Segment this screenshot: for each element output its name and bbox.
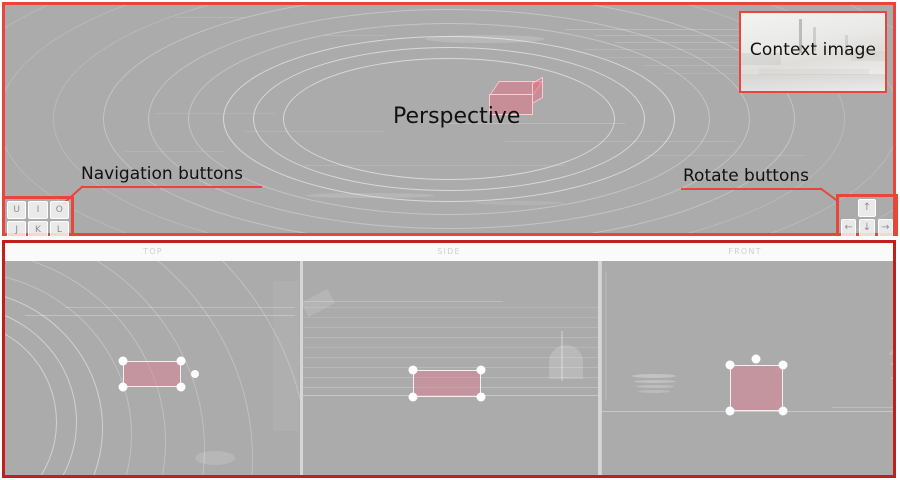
handle-top-right[interactable] bbox=[779, 361, 788, 370]
handle-bottom-right[interactable] bbox=[477, 393, 486, 402]
navigation-row-1: U I O bbox=[7, 201, 69, 219]
handle-top-right[interactable] bbox=[477, 366, 486, 375]
navigation-buttons-group[interactable]: U I O J K L bbox=[2, 196, 74, 236]
perspective-annotation-label: Perspective bbox=[393, 104, 520, 129]
key-l[interactable]: L bbox=[50, 221, 69, 239]
annotation-tool-window: Perspective Context image Navigation but… bbox=[0, 0, 900, 480]
handle-top-left[interactable] bbox=[409, 366, 418, 375]
handle-bottom-left[interactable] bbox=[409, 393, 418, 402]
pane-title-side: SIDE bbox=[301, 243, 597, 261]
rotate-row-2: ← ↓ → bbox=[841, 219, 893, 237]
pane-side[interactable] bbox=[300, 261, 601, 475]
context-image-panel[interactable]: Context image bbox=[739, 11, 887, 93]
handle-bottom-left[interactable] bbox=[726, 407, 735, 416]
handle-top-right[interactable] bbox=[177, 357, 186, 366]
rotate-annotation-underline bbox=[681, 188, 821, 190]
pane-top[interactable] bbox=[5, 261, 300, 475]
handle-top-left[interactable] bbox=[119, 357, 128, 366]
bounding-box-side[interactable] bbox=[413, 370, 481, 397]
projections-viewport[interactable]: TOP SIDE FRONT bbox=[2, 240, 896, 478]
key-k[interactable]: K bbox=[28, 221, 47, 239]
rotate-buttons-annotation-label: Rotate buttons bbox=[683, 166, 809, 186]
projection-headers: TOP SIDE FRONT bbox=[5, 243, 893, 261]
perspective-viewport[interactable]: Perspective Context image Navigation but… bbox=[2, 2, 896, 236]
bounding-box-top[interactable] bbox=[123, 361, 181, 387]
key-u[interactable]: U bbox=[7, 201, 26, 219]
pane-title-top: TOP bbox=[5, 243, 301, 261]
navigation-row-2: J K L bbox=[7, 221, 69, 239]
pane-title-front: FRONT bbox=[597, 243, 893, 261]
handle-top-left[interactable] bbox=[726, 361, 735, 370]
rotate-buttons-group[interactable]: ↑ ← ↓ → bbox=[836, 194, 898, 236]
handle-bottom-right[interactable] bbox=[177, 383, 186, 392]
handle-top-center[interactable] bbox=[752, 355, 761, 364]
navigation-buttons-annotation-label: Navigation buttons bbox=[81, 164, 243, 184]
navigation-annotation-underline bbox=[81, 186, 262, 188]
key-j[interactable]: J bbox=[7, 221, 26, 239]
arrow-up-icon[interactable]: ↑ bbox=[858, 199, 876, 217]
bounding-box-front[interactable] bbox=[730, 365, 783, 411]
arrow-left-icon[interactable]: ← bbox=[841, 219, 856, 237]
handle-heading[interactable] bbox=[191, 370, 199, 378]
pane-front[interactable] bbox=[601, 261, 893, 475]
rotate-row-1: ↑ bbox=[841, 199, 893, 217]
handle-bottom-left[interactable] bbox=[119, 383, 128, 392]
context-image-label: Context image bbox=[741, 40, 885, 60]
handle-bottom-right[interactable] bbox=[779, 407, 788, 416]
box-face-side bbox=[532, 77, 543, 104]
arrow-down-icon[interactable]: ↓ bbox=[859, 219, 874, 237]
key-i[interactable]: I bbox=[28, 201, 47, 219]
projection-panes bbox=[5, 261, 893, 475]
arrow-right-icon[interactable]: → bbox=[878, 219, 893, 237]
key-o[interactable]: O bbox=[50, 201, 69, 219]
